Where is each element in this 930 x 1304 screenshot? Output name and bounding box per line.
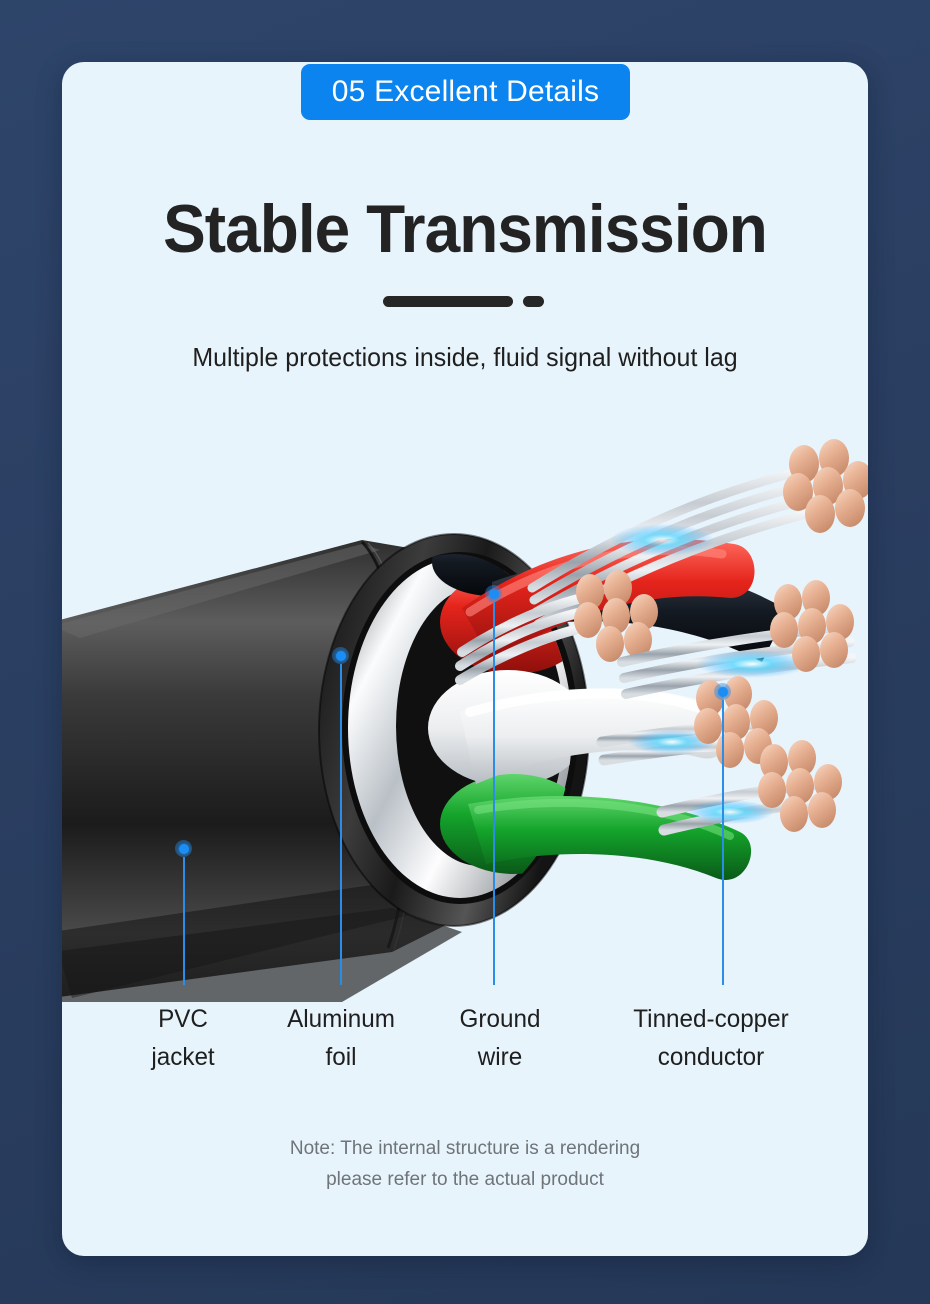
disclaimer-note: Note: The internal structure is a render… bbox=[62, 1134, 868, 1196]
section-badge: 05 Excellent Details bbox=[301, 64, 630, 120]
page-background: 05 Excellent Details Stable Transmission… bbox=[0, 0, 930, 1304]
callout-line-tinned-copper bbox=[722, 700, 724, 985]
callout-dot-core bbox=[718, 687, 728, 697]
callout-line-aluminum-foil bbox=[340, 664, 342, 985]
callout-label-ground-wire: Ground wire bbox=[422, 1000, 577, 1076]
callout-dot-pvc-jacket[interactable] bbox=[175, 840, 192, 857]
callout-label-aluminum-foil: Aluminum foil bbox=[252, 1000, 430, 1076]
note-line-2: please refer to the actual product bbox=[62, 1165, 868, 1196]
callout-line-ground-wire bbox=[493, 602, 495, 985]
callout-label-tinned-copper: Tinned-copper conductor bbox=[598, 1000, 823, 1076]
callout-labels: PVC jacket Aluminum foil Ground wire Tin… bbox=[62, 1000, 868, 1096]
callout-label-pvc-jacket: PVC jacket bbox=[105, 1000, 260, 1076]
callout-dot-tinned-copper[interactable] bbox=[714, 683, 731, 700]
divider-bar bbox=[383, 296, 513, 307]
callout-dot-core bbox=[336, 651, 346, 661]
divider-dash bbox=[523, 296, 544, 307]
section-badge-label: 05 Excellent Details bbox=[332, 75, 599, 109]
callout-dot-core bbox=[179, 844, 189, 854]
callout-dot-aluminum-foil[interactable] bbox=[332, 647, 349, 664]
page-subtitle: Multiple protections inside, fluid signa… bbox=[78, 342, 852, 373]
note-line-1: Note: The internal structure is a render… bbox=[62, 1134, 868, 1165]
callout-dot-ground-wire[interactable] bbox=[485, 585, 502, 602]
callout-line-pvc-jacket bbox=[183, 857, 185, 985]
page-title: Stable Transmission bbox=[86, 190, 844, 268]
content-card: 05 Excellent Details Stable Transmission… bbox=[62, 62, 868, 1256]
title-divider bbox=[62, 296, 868, 310]
callout-dot-core bbox=[489, 589, 499, 599]
